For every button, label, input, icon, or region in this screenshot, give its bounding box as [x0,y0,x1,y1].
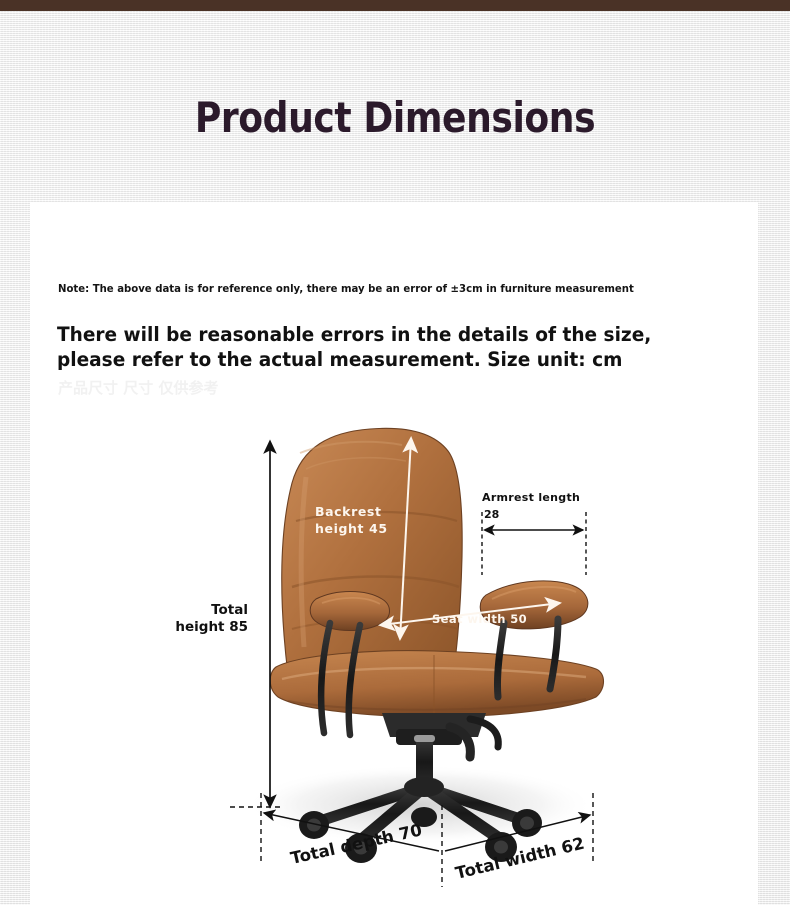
content-card: Note: The above data is for reference on… [30,202,758,905]
armrest-length-label-line2: 28 [484,508,499,521]
seat-width-label: Seat width 50 [432,612,527,626]
backrest-height-label-line1: Backrest [315,504,382,519]
page-background: Product Dimensions Note: The above data … [0,0,790,905]
measurement-headline: There will be reasonable errors in the d… [57,322,684,372]
backrest-height-label-line2: height 45 [315,521,388,536]
total-height-label-line2: height 85 [175,619,248,635]
disclaimer-note: Note: The above data is for reference on… [58,282,674,295]
watermark-text: 产品尺寸 尺寸 仅供参考 [58,377,458,398]
armrest-length-label-line1: Armrest length [482,491,580,504]
chair-backrest [282,428,462,682]
total-height-label-line1: Total [211,602,248,618]
product-dimension-illustration: Total height 85 Backrest height 45 Seat … [30,417,758,887]
top-accent-bar [0,0,790,11]
page-title: Product Dimensions [55,93,734,142]
